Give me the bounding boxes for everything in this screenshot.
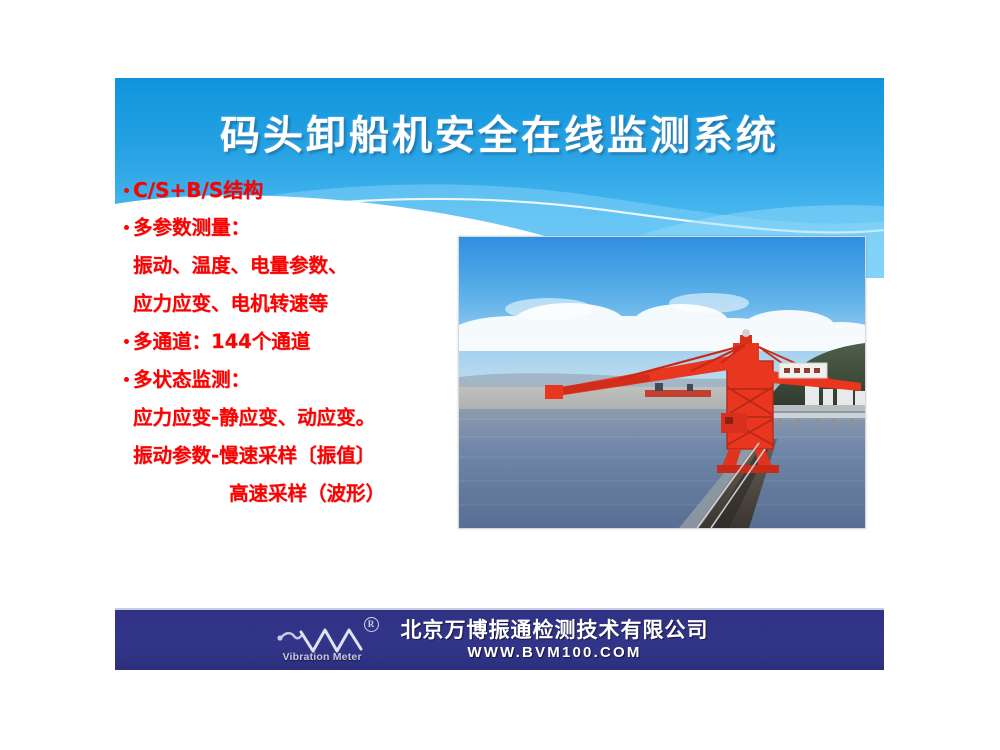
list-item-label: 振动参数-慢速采样〔振值〕	[133, 444, 375, 467]
list-item: 多状态监测：	[124, 361, 469, 399]
list-item: 应力应变、电机转速等	[124, 285, 469, 323]
bullet-dot-icon	[124, 339, 129, 344]
bullet-list: C/S+B/S结构 多参数测量： 振动、温度、电量参数、 应力应变、电机转速等 …	[124, 171, 469, 513]
registered-trademark-icon: R	[364, 617, 379, 632]
list-item: C/S+B/S结构	[124, 171, 469, 209]
vibration-meter-logo: R Vibration Meter	[275, 618, 387, 662]
footer-content: R Vibration Meter 北京万博振通检测技术有限公司 WWW.BVM…	[275, 618, 709, 662]
company-name: 北京万博振通检测技术有限公司	[401, 620, 709, 641]
list-item-label: 多通道：144个通道	[133, 330, 310, 353]
footer-bar: R Vibration Meter 北京万博振通检测技术有限公司 WWW.BVM…	[115, 608, 884, 670]
list-item: 高速采样（波形）	[124, 475, 469, 513]
company-website[interactable]: WWW.BVM100.COM	[401, 645, 709, 660]
list-item: 应力应变-静应变、动应变。	[124, 399, 469, 437]
list-item-label: 振动、温度、电量参数、	[133, 254, 348, 277]
list-item-label: 高速采样（波形）	[229, 482, 385, 505]
list-item-label: 多状态监测：	[133, 368, 250, 391]
list-item-label: 多参数测量：	[133, 216, 250, 239]
logo-caption: Vibration Meter	[283, 651, 362, 663]
slide-canvas: 码头卸船机安全在线监测系统 C/S+B/S结构 多参数测量： 振动、温度、电量参…	[115, 78, 884, 555]
ship-unloader-photo	[458, 236, 866, 529]
list-item-label: 应力应变、电机转速等	[133, 292, 328, 315]
list-item: 多通道：144个通道	[124, 323, 469, 361]
list-item: 多参数测量：	[124, 209, 469, 247]
footer-text-block: 北京万博振通检测技术有限公司 WWW.BVM100.COM	[401, 620, 709, 660]
bullet-dot-icon	[124, 377, 129, 382]
list-item-label: C/S+B/S结构	[133, 178, 263, 202]
slide-title: 码头卸船机安全在线监测系统	[115, 103, 884, 161]
list-item: 振动参数-慢速采样〔振值〕	[124, 437, 469, 475]
bullet-dot-icon	[124, 225, 129, 230]
list-item: 振动、温度、电量参数、	[124, 247, 469, 285]
list-item-label: 应力应变-静应变、动应变。	[133, 406, 375, 429]
bullet-dot-icon	[124, 188, 129, 193]
